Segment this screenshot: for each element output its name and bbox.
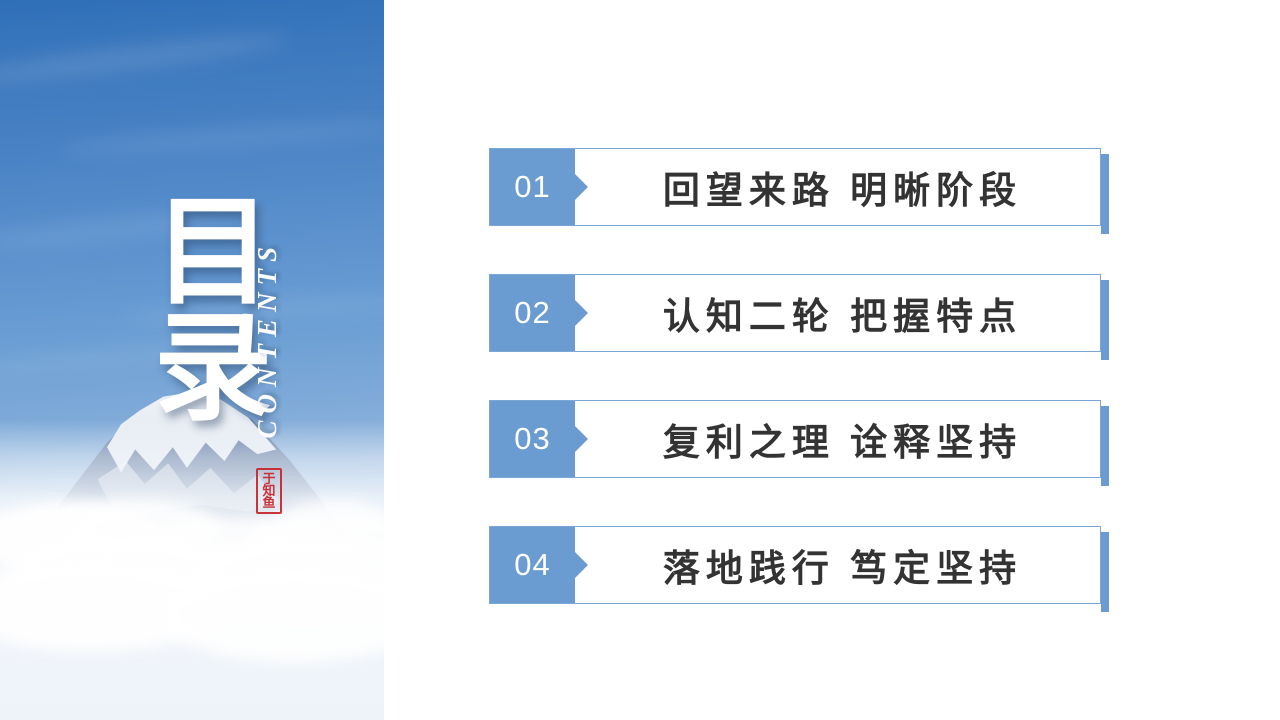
seal-char-3: 鱼 <box>262 497 275 509</box>
accent-bar <box>1101 280 1109 360</box>
contents-item-04[interactable]: 04 落地践行 笃定坚持 <box>489 526 1109 606</box>
page-title-english: CONTENTS <box>252 240 283 439</box>
item-number-badge: 02 <box>490 275 575 351</box>
item-label: 回望来路 明晰阶段 <box>575 149 1100 225</box>
contents-item-02[interactable]: 02 认知二轮 把握特点 <box>489 274 1109 354</box>
item-label: 落地践行 笃定坚持 <box>575 527 1100 603</box>
item-number-badge: 03 <box>490 401 575 477</box>
item-number-badge: 01 <box>490 149 575 225</box>
item-panel[interactable]: 03 复利之理 诠释坚持 <box>489 400 1101 478</box>
item-label: 复利之理 诠释坚持 <box>575 401 1100 477</box>
accent-bar <box>1101 532 1109 612</box>
accent-bar <box>1101 406 1109 486</box>
accent-bar <box>1101 154 1109 234</box>
contents-item-01[interactable]: 01 回望来路 明晰阶段 <box>489 148 1109 228</box>
item-panel[interactable]: 01 回望来路 明晰阶段 <box>489 148 1101 226</box>
contents-slide: 目 录 CONTENTS 于 知 鱼 01 回望来路 明晰阶段 02 认知二轮 … <box>0 0 1280 720</box>
item-panel[interactable]: 04 落地践行 笃定坚持 <box>489 526 1101 604</box>
item-number-badge: 04 <box>490 527 575 603</box>
title-group: 目 录 CONTENTS 于 知 鱼 <box>0 0 384 720</box>
left-photo-panel: 目 录 CONTENTS 于 知 鱼 <box>0 0 384 720</box>
item-panel[interactable]: 02 认知二轮 把握特点 <box>489 274 1101 352</box>
contents-list: 01 回望来路 明晰阶段 02 认知二轮 把握特点 03 复利之理 诠释坚持 0… <box>489 148 1114 618</box>
contents-item-03[interactable]: 03 复利之理 诠释坚持 <box>489 400 1109 480</box>
item-label: 认知二轮 把握特点 <box>575 275 1100 351</box>
red-seal-stamp: 于 知 鱼 <box>256 468 282 514</box>
